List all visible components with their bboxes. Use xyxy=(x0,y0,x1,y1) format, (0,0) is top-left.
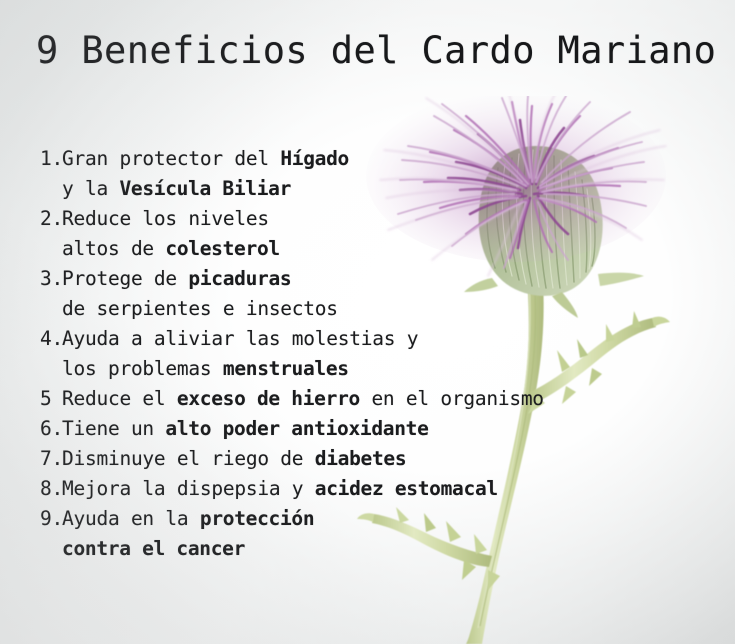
benefit-line-primary: 3.Protege de picaduras xyxy=(40,264,600,294)
benefit-phrase: Reduce el xyxy=(62,387,177,410)
benefit-line-continuation: 4.los problemas menstruales xyxy=(40,354,600,384)
benefit-text: Reduce el exceso de hierro en el organis… xyxy=(62,384,544,414)
benefit-keyword: menstruales xyxy=(223,357,349,380)
benefit-item: 7.Disminuye el riego de diabetes xyxy=(40,444,600,474)
benefit-line-primary: 7.Disminuye el riego de diabetes xyxy=(40,444,600,474)
benefit-keyword: contra el cancer xyxy=(62,537,245,560)
benefit-text: y la Vesícula Biliar xyxy=(62,174,291,204)
benefit-phrase: Ayuda en la xyxy=(62,507,200,530)
benefits-list: 1.Gran protector del Hígado1.y la Vesícu… xyxy=(40,144,600,564)
benefit-text: Disminuye el riego de diabetes xyxy=(62,444,406,474)
benefit-line-primary: 1.Gran protector del Hígado xyxy=(40,144,600,174)
benefit-item: 6.Tiene un alto poder antioxidante xyxy=(40,414,600,444)
benefit-phrase: los problemas xyxy=(62,357,223,380)
benefit-number: 6. xyxy=(40,414,62,444)
benefit-item: 2.Reduce los niveles2.altos de colestero… xyxy=(40,204,600,264)
benefit-text: Tiene un alto poder antioxidante xyxy=(62,414,429,444)
benefit-phrase: Protege de xyxy=(62,267,188,290)
benefit-text: altos de colesterol xyxy=(62,234,280,264)
benefit-line-primary: 8.Mejora la dispepsia y acidez estomacal xyxy=(40,474,600,504)
benefit-text: Reduce los niveles xyxy=(62,204,269,234)
benefit-line-primary: 6.Tiene un alto poder antioxidante xyxy=(40,414,600,444)
benefit-line-primary: 5Reduce el exceso de hierro en el organi… xyxy=(40,384,600,414)
benefit-text: Mejora la dispepsia y acidez estomacal xyxy=(62,474,498,504)
benefit-line-primary: 4.Ayuda a aliviar las molestias y xyxy=(40,324,600,354)
benefit-number: 4. xyxy=(40,324,62,354)
benefit-number: 8. xyxy=(40,474,62,504)
benefit-keyword: protección xyxy=(200,507,314,530)
benefit-text: contra el cancer xyxy=(62,534,245,564)
benefit-phrase: en el organismo xyxy=(360,387,544,410)
benefit-number: 7. xyxy=(40,444,62,474)
benefit-number: 9. xyxy=(40,504,62,534)
benefit-text: Gran protector del Hígado xyxy=(62,144,349,174)
benefit-number: 2. xyxy=(40,204,62,234)
benefit-item: 8.Mejora la dispepsia y acidez estomacal xyxy=(40,474,600,504)
benefit-line-continuation: 9.contra el cancer xyxy=(40,534,600,564)
page-title: 9 Beneficios del Cardo Mariano xyxy=(36,28,716,74)
benefit-text: Ayuda en la protección xyxy=(62,504,314,534)
benefit-phrase: Ayuda a aliviar las molestias y xyxy=(62,327,418,350)
benefit-keyword: picaduras xyxy=(188,267,291,290)
benefit-number: 5 xyxy=(40,384,62,414)
benefit-phrase: Disminuye el riego de xyxy=(62,447,315,470)
benefit-phrase: Reduce los niveles xyxy=(62,207,269,230)
benefit-line-continuation: 3.de serpientes e insectos xyxy=(40,294,600,324)
benefit-text: Ayuda a aliviar las molestias y xyxy=(62,324,418,354)
benefit-line-primary: 2.Reduce los niveles xyxy=(40,204,600,234)
benefit-item: 9.Ayuda en la protección9.contra el canc… xyxy=(40,504,600,564)
benefit-keyword: colesterol xyxy=(165,237,279,260)
benefit-item: 3.Protege de picaduras3.de serpientes e … xyxy=(40,264,600,324)
benefit-keyword: alto poder antioxidante xyxy=(165,417,428,440)
benefit-line-continuation: 1.y la Vesícula Biliar xyxy=(40,174,600,204)
benefit-item: 1.Gran protector del Hígado1.y la Vesícu… xyxy=(40,144,600,204)
benefit-phrase: y la xyxy=(62,177,119,200)
benefit-number: 1. xyxy=(40,144,62,174)
benefit-item: 4.Ayuda a aliviar las molestias y4.los p… xyxy=(40,324,600,384)
benefit-text: los problemas menstruales xyxy=(62,354,349,384)
benefit-keyword: Vesícula Biliar xyxy=(119,177,291,200)
benefit-phrase: de serpientes e insectos xyxy=(62,297,338,320)
benefit-number: 3. xyxy=(40,264,62,294)
benefit-phrase: Gran protector del xyxy=(62,147,280,170)
benefit-item: 5Reduce el exceso de hierro en el organi… xyxy=(40,384,600,414)
benefit-phrase: Mejora la dispepsia y xyxy=(62,477,315,500)
poster-canvas: 9 Beneficios del Cardo Mariano 1.Gran pr… xyxy=(0,0,735,644)
benefit-phrase: altos de xyxy=(62,237,165,260)
benefit-line-continuation: 2.altos de colesterol xyxy=(40,234,600,264)
benefit-phrase: Tiene un xyxy=(62,417,165,440)
benefit-text: de serpientes e insectos xyxy=(62,294,338,324)
benefit-keyword: Hígado xyxy=(280,147,349,170)
benefit-keyword: diabetes xyxy=(315,447,407,470)
benefit-keyword: exceso de hierro xyxy=(177,387,360,410)
benefit-line-primary: 9.Ayuda en la protección xyxy=(40,504,600,534)
benefit-keyword: acidez estomacal xyxy=(315,477,498,500)
benefit-text: Protege de picaduras xyxy=(62,264,291,294)
